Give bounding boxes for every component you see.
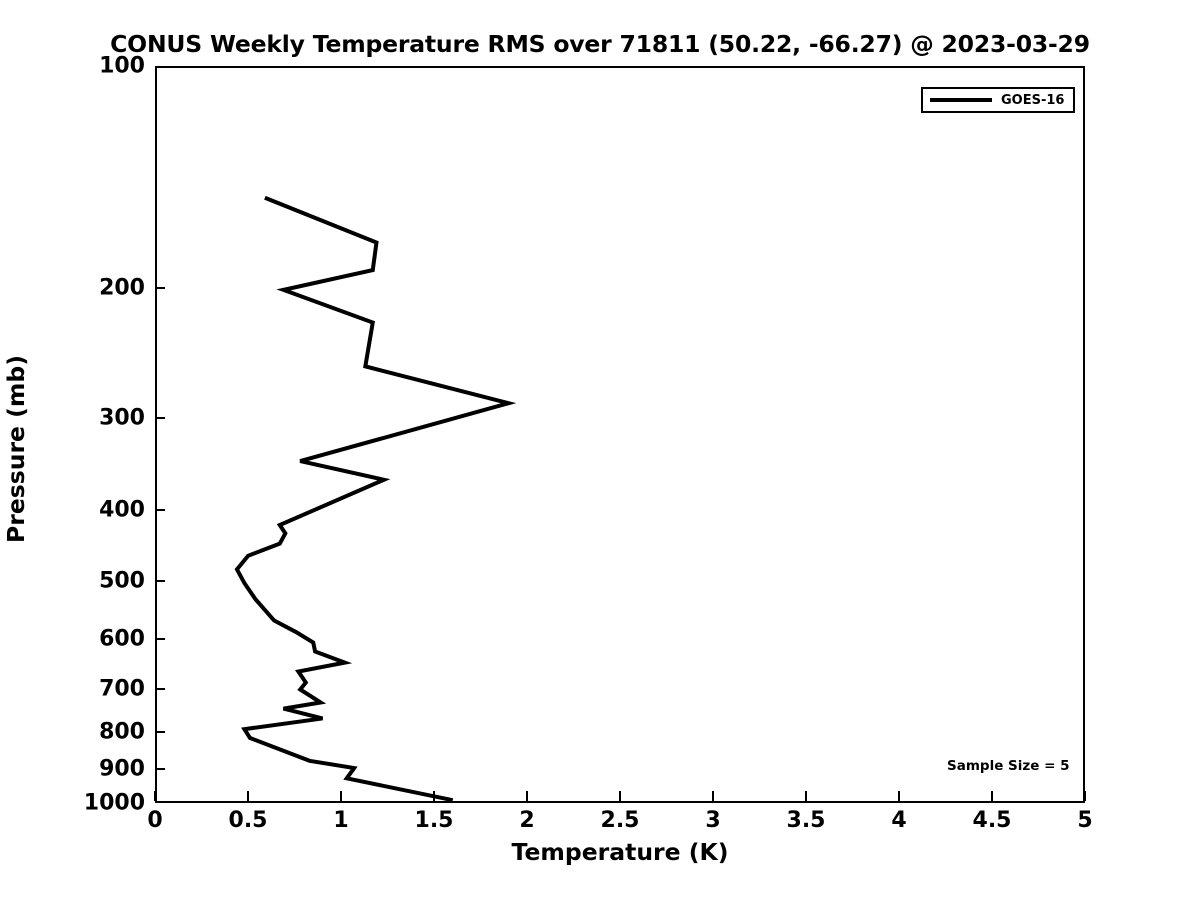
legend: GOES-16 [921, 87, 1075, 113]
y-tick-mark [155, 580, 165, 582]
x-tick-mark [1084, 791, 1086, 801]
y-tick-label: 200 [99, 275, 145, 300]
y-tick-mark [155, 688, 165, 690]
y-tick-label: 900 [99, 757, 145, 782]
y-tick-mark [155, 638, 165, 640]
x-tick-mark [247, 791, 249, 801]
data-plot-svg [157, 68, 1087, 805]
y-tick-mark [155, 768, 165, 770]
x-tick-label: 5 [1077, 808, 1092, 833]
x-tick-label: 0.5 [229, 808, 268, 833]
x-tick-mark [154, 791, 156, 801]
x-tick-mark [526, 791, 528, 801]
y-tick-label: 600 [99, 627, 145, 652]
y-tick-mark [155, 287, 165, 289]
x-tick-mark [433, 791, 435, 801]
x-axis-title: Temperature (K) [155, 838, 1085, 866]
x-tick-label: 2 [519, 808, 534, 833]
page-title: CONUS Weekly Temperature RMS over 71811 … [0, 30, 1200, 58]
x-tick-mark [805, 791, 807, 801]
plot-area [155, 66, 1085, 803]
x-tick-label: 4.5 [973, 808, 1012, 833]
x-tick-label: 3.5 [787, 808, 826, 833]
x-tick-mark [991, 791, 993, 801]
legend-item-label: GOES-16 [1001, 93, 1064, 108]
series-line-goes-16 [237, 198, 509, 800]
y-tick-label: 700 [99, 676, 145, 701]
sample-size-annotation: Sample Size = 5 [947, 758, 1070, 774]
x-tick-mark [619, 791, 621, 801]
y-axis-title: Pressure (mb) [2, 299, 30, 599]
y-tick-label: 300 [99, 405, 145, 430]
x-tick-mark [898, 791, 900, 801]
y-tick-label: 100 [99, 54, 145, 79]
x-tick-label: 1 [333, 808, 348, 833]
legend-line-swatch [930, 98, 992, 102]
y-tick-mark [155, 731, 165, 733]
x-tick-label: 3 [705, 808, 720, 833]
y-tick-mark [155, 417, 165, 419]
y-tick-label: 1000 [84, 791, 145, 816]
y-tick-label: 800 [99, 719, 145, 744]
x-tick-mark [712, 791, 714, 801]
x-tick-label: 2.5 [601, 808, 640, 833]
x-tick-label: 0 [147, 808, 162, 833]
y-tick-label: 400 [99, 497, 145, 522]
y-tick-label: 500 [99, 569, 145, 594]
y-tick-mark [155, 509, 165, 511]
chart-page: CONUS Weekly Temperature RMS over 71811 … [0, 0, 1200, 900]
x-tick-label: 4 [891, 808, 906, 833]
x-tick-mark [340, 791, 342, 801]
x-tick-label: 1.5 [415, 808, 454, 833]
